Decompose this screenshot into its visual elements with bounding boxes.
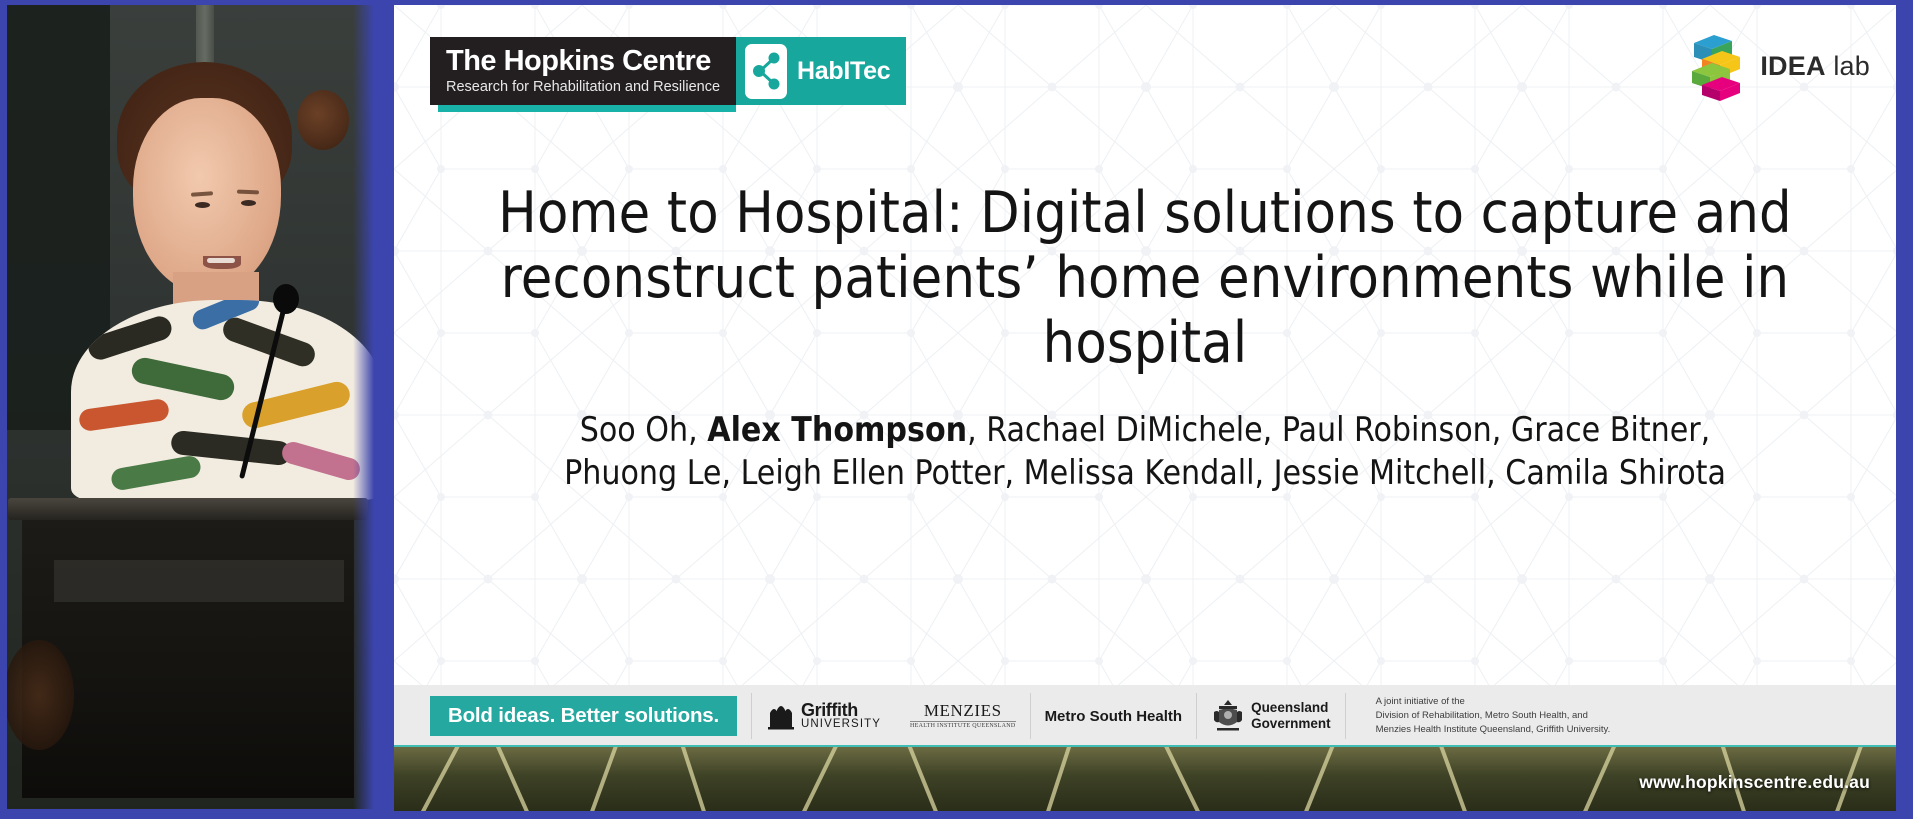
speaker-face <box>133 98 281 294</box>
speaker-eye-right <box>241 200 256 206</box>
idea-lab-light-text: lab <box>1833 51 1870 81</box>
author-line-1: Soo Oh, Alex Thompson, Rachael DiMichele… <box>448 409 1842 452</box>
hopkins-centre-title: The Hopkins Centre <box>446 47 720 76</box>
griffith-crest-icon <box>766 701 796 731</box>
speaker-figure <box>95 62 355 422</box>
lectern-panel <box>54 560 344 602</box>
strip-line <box>1570 747 1622 811</box>
idea-lab-logo: IDEA lab <box>1686 27 1870 105</box>
menzies-line-1: MENZIES <box>910 702 1016 720</box>
hopkins-centre-logo: The Hopkins Centre Research for Rehabili… <box>430 37 736 105</box>
footer-divider <box>1030 693 1031 739</box>
lectern-top <box>8 498 368 520</box>
joint-initiative-line-3: Menzies Health Institute Queensland, Gri… <box>1376 723 1611 737</box>
metro-south-health-wordmark: Metro South Health <box>1045 708 1183 725</box>
video-border-left <box>0 0 7 819</box>
garment-pattern-motif <box>78 398 170 432</box>
video-edge-glow <box>353 0 383 819</box>
strip-line <box>788 747 844 811</box>
habitec-logo: HabITec <box>736 37 906 105</box>
strip-line <box>676 747 717 811</box>
speaker-patterned-top <box>71 300 383 500</box>
footer-divider <box>1196 693 1197 739</box>
share-nodes-icon <box>745 44 787 99</box>
garment-pattern-motif <box>129 355 236 402</box>
queensland-government-logo: Queensland Government <box>1211 693 1331 739</box>
author-list: Soo Oh, Alex Thompson, Rachael DiMichele… <box>448 409 1842 495</box>
footer-divider <box>751 693 752 739</box>
lectern-body <box>22 520 354 798</box>
video-border-bottom <box>0 809 383 819</box>
strip-line <box>1036 747 1077 811</box>
page-title: Home to Hospital: Digital solutions to c… <box>448 181 1842 376</box>
menzies-line-2: HEALTH INSTITUTE QUEENSLAND <box>910 721 1016 729</box>
speaker-mouth <box>203 256 241 269</box>
speaker-eye-left <box>195 202 210 208</box>
presenting-author: Alex Thompson <box>707 410 967 449</box>
menzies-logo: MENZIES HEALTH INSTITUTE QUEENSLAND <box>910 693 1016 739</box>
website-url: www.hopkinscentre.edu.au <box>1639 772 1870 793</box>
slide-title-container: Home to Hospital: Digital solutions to c… <box>448 181 1842 376</box>
hopkins-habitec-logo-lockup: The Hopkins Centre Research for Rehabili… <box>430 37 906 105</box>
footer-divider <box>1345 693 1346 739</box>
garment-pattern-motif <box>110 454 202 491</box>
speaker-hair-bun <box>297 90 349 150</box>
joint-initiative-line-2: Division of Rehabilitation, Metro South … <box>1376 709 1611 723</box>
strip-line <box>902 747 951 811</box>
queensland-wordmark: Queensland Government <box>1251 700 1331 731</box>
metro-south-health-logo: Metro South Health <box>1045 693 1183 739</box>
tagline-badge: Bold ideas. Better solutions. <box>430 696 737 736</box>
lectern <box>8 498 368 798</box>
video-border-top <box>0 0 383 5</box>
queensland-crest-icon <box>1211 698 1245 734</box>
garment-pattern-motif <box>85 313 174 362</box>
strip-line <box>579 747 624 811</box>
strip-line <box>406 747 466 811</box>
presentation-slide[interactable]: The Hopkins Centre Research for Rehabili… <box>394 5 1896 811</box>
speaker-eyebrow-left <box>191 191 213 197</box>
griffith-university-logo: Griffith UNIVERSITY <box>766 693 881 739</box>
hopkins-centre-subtitle: Research for Rehabilitation and Resilien… <box>446 79 720 96</box>
author-line-2: Phuong Le, Leigh Ellen Potter, Melissa K… <box>448 452 1842 495</box>
presentation-window: The Hopkins Centre Research for Rehabili… <box>0 0 1913 819</box>
strip-line <box>1434 747 1479 811</box>
queensland-line-2: Government <box>1251 716 1331 732</box>
author-line-1-pre: Soo Oh, <box>580 410 708 449</box>
speaker-video-feed[interactable] <box>0 0 383 819</box>
griffith-line-2: UNIVERSITY <box>801 719 881 731</box>
strip-line <box>1158 747 1214 811</box>
habitec-label: HabITec <box>797 57 890 86</box>
idea-lab-blocks-icon <box>1686 27 1748 105</box>
speaker-eyebrow-right <box>237 190 259 195</box>
garment-pattern-motif <box>280 439 363 482</box>
strip-line <box>490 747 542 811</box>
idea-lab-bold-text: IDEA <box>1760 51 1825 81</box>
strip-line <box>1292 747 1341 811</box>
microphone-head <box>273 284 299 314</box>
griffith-wordmark: Griffith UNIVERSITY <box>801 701 881 731</box>
griffith-line-1: Griffith <box>801 701 881 719</box>
slide-footer: Bold ideas. Better solutions. Griffith U… <box>394 685 1896 747</box>
joint-initiative-note: A joint initiative of the Division of Re… <box>1376 695 1611 736</box>
hopkins-teal-underline <box>438 105 736 112</box>
queensland-line-1: Queensland <box>1251 700 1331 716</box>
idea-lab-wordmark: IDEA lab <box>1760 51 1870 82</box>
foreground-audience-head <box>4 640 74 750</box>
author-line-1-post: , Rachael DiMichele, Paul Robinson, Grac… <box>967 410 1710 449</box>
joint-initiative-line-1: A joint initiative of the <box>1376 695 1611 709</box>
